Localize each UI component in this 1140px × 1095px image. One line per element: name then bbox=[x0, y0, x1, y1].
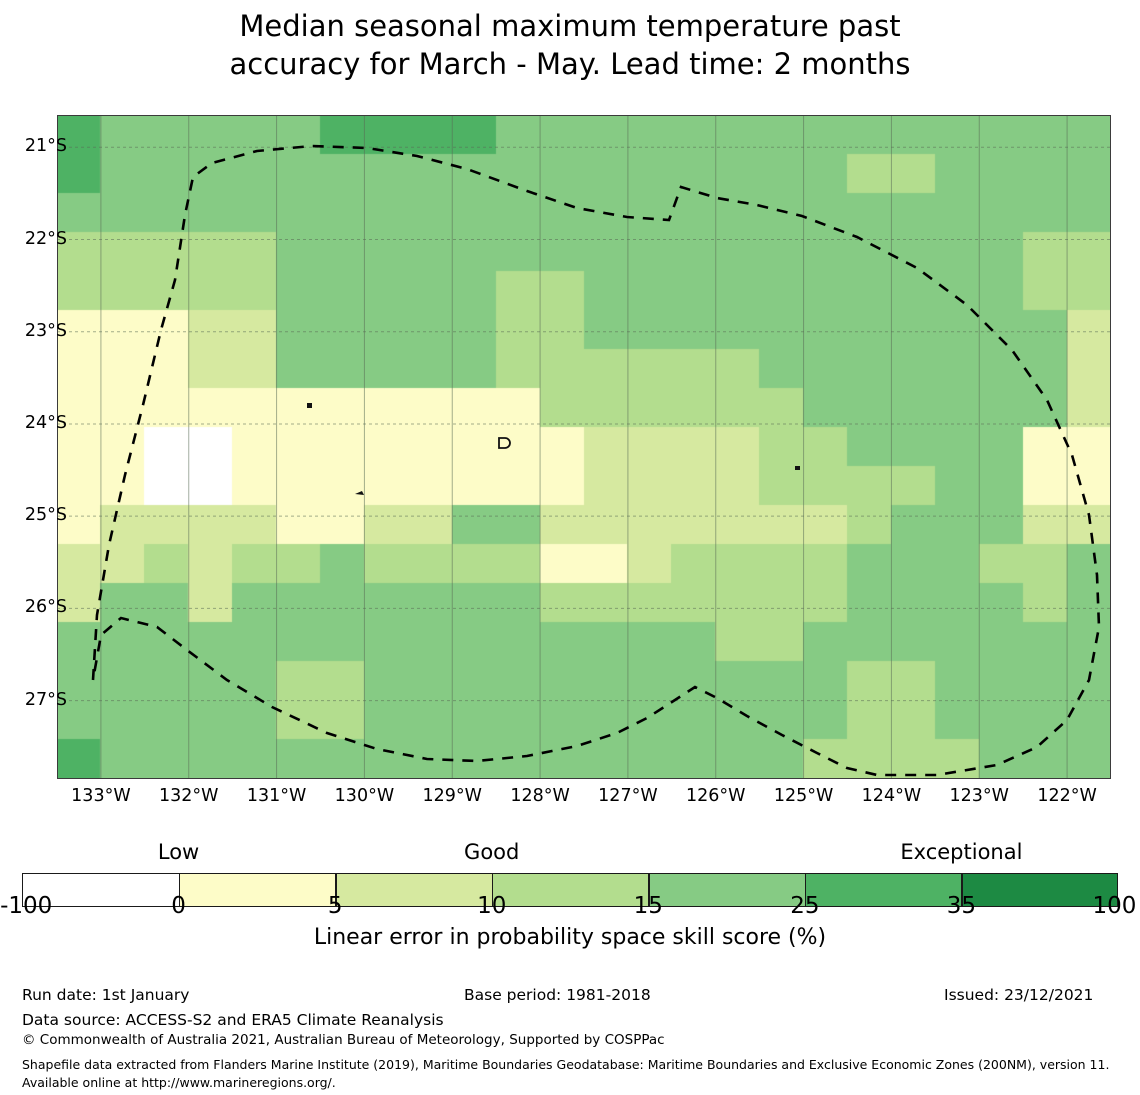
island-marker-1 bbox=[307, 403, 312, 408]
x-axis-tick-label: 132°W bbox=[159, 786, 218, 806]
colorbar-band[interactable] bbox=[805, 873, 962, 907]
colorbar-band[interactable] bbox=[179, 873, 336, 907]
colorbar-category-label: Good bbox=[464, 840, 519, 864]
x-axis-tick-label: 127°W bbox=[598, 786, 657, 806]
colorbar-band[interactable] bbox=[648, 873, 805, 907]
eez-boundary-dashed bbox=[57, 115, 1111, 779]
x-axis-tick-label: 129°W bbox=[423, 786, 482, 806]
y-axis-tick-label: 25°S bbox=[25, 505, 67, 525]
colorbar-tick-label: 5 bbox=[328, 893, 343, 919]
island-marker-3 bbox=[795, 466, 800, 470]
colorbar-tick-label: 10 bbox=[477, 893, 506, 919]
colorbar-tick-label: -100 bbox=[0, 893, 52, 919]
colorbar-axis-title: Linear error in probability space skill … bbox=[0, 925, 1140, 950]
chart-title: Median seasonal maximum temperature past… bbox=[0, 8, 1140, 83]
colorbar-tick-label: 0 bbox=[171, 893, 186, 919]
x-axis-tick-label: 126°W bbox=[686, 786, 745, 806]
x-axis-tick-label: 122°W bbox=[1037, 786, 1096, 806]
island-marker-2 bbox=[499, 438, 510, 448]
colorbar-band[interactable] bbox=[335, 873, 492, 907]
y-axis-tick-label: 21°S bbox=[25, 136, 67, 156]
colorbar-category-label: Exceptional bbox=[900, 840, 1022, 864]
colorbar-tick-label: 100 bbox=[1093, 893, 1137, 919]
y-axis-tick-label: 24°S bbox=[25, 413, 67, 433]
x-axis-tick-label: 128°W bbox=[510, 786, 569, 806]
island-marker-4 bbox=[355, 491, 364, 495]
chart-title-line-2: accuracy for March - May. Lead time: 2 m… bbox=[0, 46, 1140, 84]
colorbar-tick-label: 25 bbox=[790, 893, 819, 919]
x-axis-tick-label: 131°W bbox=[247, 786, 306, 806]
y-axis-tick-label: 22°S bbox=[25, 229, 67, 249]
footer-run-date: Run date: 1st January bbox=[22, 986, 189, 1004]
x-axis-tick-label: 133°W bbox=[71, 786, 130, 806]
y-axis-tick-label: 23°S bbox=[25, 321, 67, 341]
colorbar-category-label: Low bbox=[158, 840, 199, 864]
colorbar-tick-label: 15 bbox=[634, 893, 663, 919]
x-axis-tick-label: 123°W bbox=[950, 786, 1009, 806]
heatmap-plot-area bbox=[57, 115, 1111, 779]
footer-copyright: © Commonwealth of Australia 2021, Austra… bbox=[22, 1032, 665, 1048]
x-axis-tick-label: 124°W bbox=[862, 786, 921, 806]
x-axis-tick-label: 125°W bbox=[774, 786, 833, 806]
colorbar-tick-label: 35 bbox=[947, 893, 976, 919]
y-axis-tick-label: 27°S bbox=[25, 690, 67, 710]
colorbar-band[interactable] bbox=[492, 873, 649, 907]
footer-base-period: Base period: 1981-2018 bbox=[464, 986, 651, 1004]
footer-shapefile-note: Shapefile data extracted from Flanders M… bbox=[22, 1056, 1122, 1092]
y-axis-tick-label: 26°S bbox=[25, 597, 67, 617]
chart-title-line-1: Median seasonal maximum temperature past bbox=[0, 8, 1140, 46]
footer-meta-row: Run date: 1st January Base period: 1981-… bbox=[0, 986, 1140, 1008]
footer-data-source: Data source: ACCESS-S2 and ERA5 Climate … bbox=[22, 1011, 444, 1029]
footer-issued: Issued: 23/12/2021 bbox=[944, 986, 1093, 1004]
x-axis-tick-label: 130°W bbox=[335, 786, 394, 806]
